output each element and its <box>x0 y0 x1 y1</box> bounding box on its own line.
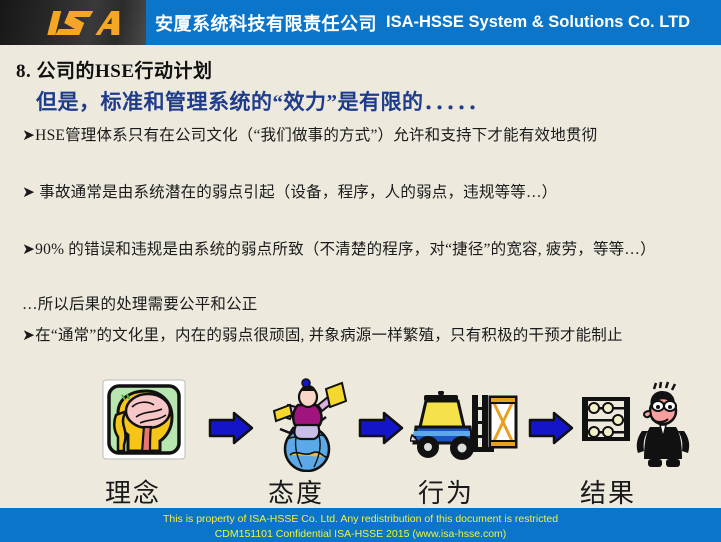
footer-confidential-line: CDM151101 Confidential ISA-HSSE 2015 (ww… <box>0 527 721 542</box>
header-title: 安厦系统科技有限责任公司 ISA-HSSE System & Solutions… <box>155 0 690 45</box>
logo-panel <box>0 0 146 45</box>
caption-step-4: 结果 <box>580 473 636 510</box>
right-arrow-icon <box>358 411 404 445</box>
bullet-paragraph-2: ➤ 事故通常是由系统潜在的弱点引起（设备，程序，人的弱点，违规等等…） <box>22 180 706 205</box>
abacus-businessman-icon <box>578 381 698 478</box>
bullet-paragraph-3: ➤90% 的错误和违规是由系统的弱点所致（不清楚的程序，对“捷径”的宽容, 疲劳… <box>22 237 706 262</box>
head-brain-icon <box>100 377 188 467</box>
bullet-paragraph-1: ➤HSE管理体系只有在公司文化（“我们做事的方式”）允许和支持下才能有效地贯彻 <box>22 123 706 148</box>
process-strip <box>0 377 721 477</box>
slide-body: 8. 公司的HSE行动计划 但是，标准和管理系统的“效力”是有限的．．．．． ➤… <box>0 45 721 505</box>
footer-copyright-line: This is property of ISA-HSSE Co. Ltd. An… <box>0 512 721 527</box>
slide-footer: This is property of ISA-HSSE Co. Ltd. An… <box>0 508 721 542</box>
page-title: 8. 公司的HSE行动计划 <box>16 56 213 83</box>
person-on-globe-icon <box>262 377 352 477</box>
page-subtitle: 但是，标准和管理系统的“效力”是有限的．．．．． <box>36 86 489 116</box>
right-arrow-icon <box>208 411 254 445</box>
bullet-paragraph-4: …所以后果的处理需要公平和公正 <box>22 292 706 317</box>
header-title-cn: 安厦系统科技有限责任公司 <box>155 10 377 36</box>
caption-step-1: 理念 <box>105 473 161 510</box>
app-header: 安厦系统科技有限责任公司 ISA-HSSE System & Solutions… <box>0 0 721 45</box>
isa-logo-svg <box>36 8 132 38</box>
caption-step-2: 态度 <box>268 473 324 510</box>
isa-logo-icon <box>36 8 132 38</box>
header-title-en: ISA-HSSE System & Solutions Co. LTD <box>386 13 690 32</box>
right-arrow-icon <box>528 411 574 445</box>
process-captions: 理念 态度 行为 结果 <box>0 473 721 509</box>
forklift-icon <box>410 391 522 468</box>
bullet-paragraph-5: ➤在“通常”的文化里，内在的弱点很顽固, 并象病源一样繁殖，只有积极的干预才能制… <box>22 323 706 348</box>
caption-step-3: 行为 <box>418 473 474 510</box>
